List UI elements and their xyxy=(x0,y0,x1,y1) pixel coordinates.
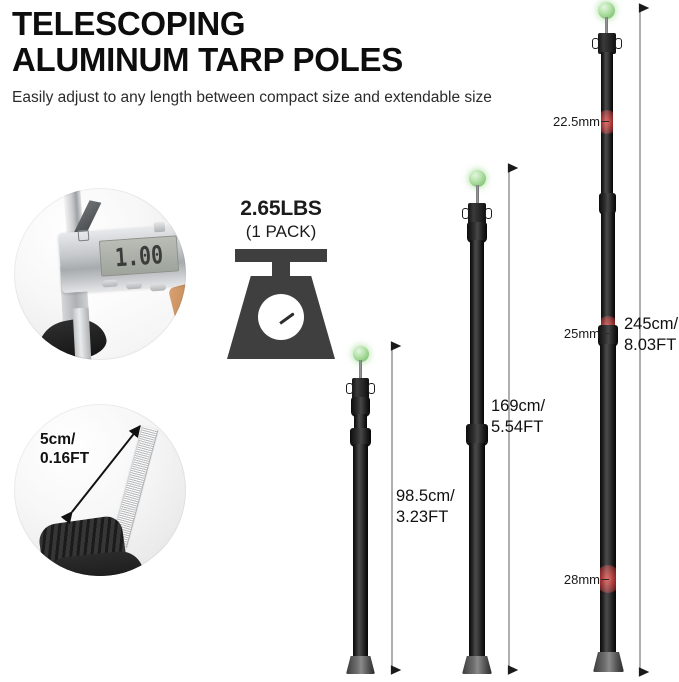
page-title-line-1: TELESCOPING xyxy=(12,6,492,42)
weight-text-block: 2.65LBS (1 PACK) xyxy=(200,196,362,243)
clamp-wing-left xyxy=(592,38,599,49)
diameter-leader-25mm xyxy=(601,333,609,334)
kitchen-scale-icon xyxy=(227,249,335,359)
pole-foot xyxy=(593,652,624,672)
pole-top-stem xyxy=(359,360,362,380)
length-line-1: 98.5cm/ xyxy=(396,486,455,507)
scale-platform xyxy=(235,249,327,262)
pole-top-clamp xyxy=(598,33,616,54)
diameter-label-28mm: 28mm xyxy=(544,572,600,587)
clamp-wing-right xyxy=(485,208,492,219)
pole-compact-length-label: 98.5cm/ 3.23FT xyxy=(396,486,455,528)
clamp-wing-left xyxy=(346,383,353,394)
scale-dial xyxy=(258,294,304,340)
pole-foot xyxy=(346,656,375,674)
scale-neck xyxy=(272,262,290,278)
caliper-closeup-photo: 1.00 xyxy=(14,188,186,360)
headline-block: TELESCOPING ALUMINUM TARP POLES Easily a… xyxy=(12,6,492,108)
photo-circle-edge xyxy=(14,188,186,360)
pole-segment-3 xyxy=(600,344,616,656)
pole-segment-upper xyxy=(470,240,484,430)
length-line-1: 245cm/ xyxy=(624,314,678,335)
clamp-wing-right xyxy=(615,38,622,49)
infographic-canvas: TELESCOPING ALUMINUM TARP POLES Easily a… xyxy=(0,0,679,682)
pole-top-clamp xyxy=(352,378,369,399)
weight-badge: 2.65LBS (1 PACK) xyxy=(200,196,362,359)
length-line-2: 8.03FT xyxy=(624,335,678,356)
pole-top-clamp xyxy=(468,203,486,224)
clamp-wing-right xyxy=(368,383,375,394)
diameter-leader-28mm xyxy=(601,579,609,580)
photo-circle-edge xyxy=(14,404,186,576)
length-line-2: 3.23FT xyxy=(396,507,455,528)
diameter-leader-22-5mm xyxy=(601,121,609,122)
clamp-wing-left xyxy=(462,208,469,219)
diameter-label-25mm: 25mm xyxy=(548,326,600,341)
weight-value: 2.65LBS xyxy=(200,196,362,221)
pole-segment-lower xyxy=(469,443,485,660)
pole-foot xyxy=(462,656,492,674)
pack-count: (1 PACK) xyxy=(200,221,362,243)
pole-extended-length-label: 245cm/ 8.03FT xyxy=(624,314,678,356)
length-line-1: 169cm/ xyxy=(491,396,545,417)
diameter-label-22-5mm: 22.5mm xyxy=(548,114,600,129)
pole-segment-2 xyxy=(601,212,615,332)
page-title-line-2: ALUMINUM TARP POLES xyxy=(12,42,492,78)
pole-medium-length-label: 169cm/ 5.54FT xyxy=(491,396,545,438)
threaded-rod-closeup-photo: 5cm/ 0.16FT xyxy=(14,404,186,576)
pole-top-stem xyxy=(476,185,479,205)
subtitle: Easily adjust to any length between comp… xyxy=(12,88,492,108)
scale-needle xyxy=(279,312,294,324)
pole-segment-lower xyxy=(353,444,368,660)
length-line-2: 5.54FT xyxy=(491,417,545,438)
